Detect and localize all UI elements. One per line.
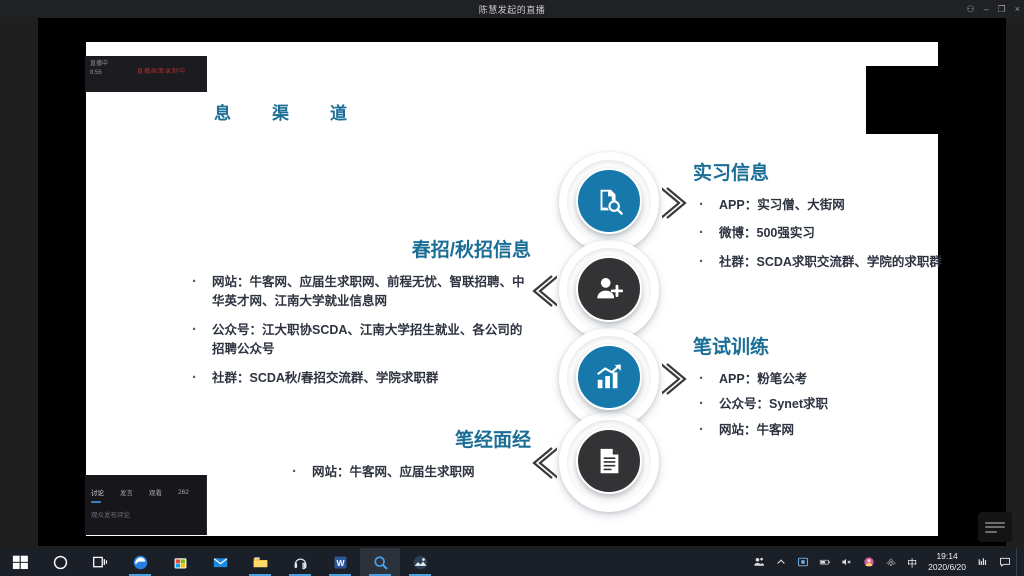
chain-node-1 [559, 152, 659, 252]
start-button[interactable] [0, 548, 40, 576]
restore-icon[interactable]: ❐ [998, 5, 1006, 14]
meeting-app-button[interactable] [280, 548, 320, 576]
section-heading: 春招/秋招信息 [186, 235, 531, 262]
action-center-icon[interactable] [994, 548, 1016, 576]
list-item: 公众号：江大职协SCDA、江南大学招生就业、各公司的招聘公众号 [186, 321, 531, 360]
onedrive-icon[interactable] [792, 548, 814, 576]
more-options-icon[interactable] [978, 512, 1012, 542]
network-icon[interactable] [880, 548, 902, 576]
equalizer-icon[interactable] [972, 548, 994, 576]
tab-discussion[interactable]: 讨论 [91, 487, 104, 497]
edge-button[interactable] [120, 548, 160, 576]
document-icon [576, 428, 642, 494]
list-item: 社群：SCDA秋/春招交流群、学院求职群 [186, 369, 531, 388]
user-avatar-icon[interactable] [858, 548, 880, 576]
tab-speak[interactable]: 发言 [120, 487, 133, 497]
add-person-icon [576, 256, 642, 322]
search-app-button[interactable] [360, 548, 400, 576]
section-written-test: 笔试训练 APP：粉笔公考 公众号：Synet求职 网站：牛客网 [693, 332, 993, 446]
tab-underline [91, 501, 101, 503]
show-hidden-icons-button[interactable] [770, 548, 792, 576]
volume-muted-icon[interactable] [836, 548, 858, 576]
section-recruit: 春招/秋招信息 网站：牛客网、应届生求职网、前程无忧、智联招聘、中华英才网、江南… [186, 235, 531, 397]
chat-tabs[interactable]: 讨论 发言 观看 262 [85, 475, 206, 497]
list-item: APP：实习僧、大街网 [693, 196, 993, 215]
ime-language-icon[interactable]: 中 [902, 548, 922, 576]
file-explorer-button[interactable] [240, 548, 280, 576]
section-bullets: 网站：牛客网、应届生求职网 [226, 463, 531, 482]
viewers-label: 观看 [149, 487, 162, 497]
clock-date: 2020/6/20 [928, 562, 966, 573]
chain-node-2 [559, 240, 659, 340]
close-icon[interactable]: × [1015, 5, 1020, 14]
list-item: 网站：牛客网、应届生求职网 [286, 463, 531, 482]
document-search-icon [576, 168, 642, 234]
clock-time: 19:14 [936, 551, 957, 562]
battery-icon[interactable] [814, 548, 836, 576]
window-title: 陈慧发起的直播 [479, 3, 546, 16]
minimize-icon[interactable]: – [984, 5, 989, 14]
section-internship: 实习信息 APP：实习僧、大街网 微博：500强实习 社群：SCDA求职交流群、… [693, 158, 993, 281]
cortana-search-button[interactable] [40, 548, 80, 576]
chevron-right-icon [662, 362, 692, 396]
photo-app-button[interactable] [400, 548, 440, 576]
list-item: 网站：牛客网、应届生求职网、前程无忧、智联招聘、中华英才网、江南大学就业信息网 [186, 273, 531, 312]
chain-node-4 [559, 412, 659, 512]
bell-icon[interactable]: ⚇ [967, 5, 975, 14]
chat-input[interactable]: 观众发布评论 [91, 509, 130, 519]
recording-notice: 直播画面录制中 [137, 68, 186, 77]
livestream-viewport[interactable]: 息 渠 道 [38, 18, 1006, 546]
stream-chat-overlay[interactable]: 讨论 发言 观看 262 观众发布评论 [85, 475, 207, 535]
section-bullets: APP：实习僧、大街网 微博：500强实习 社群：SCDA求职交流群、学院的求职… [693, 196, 993, 272]
section-heading: 实习信息 [693, 158, 993, 185]
show-desktop-button[interactable] [1016, 548, 1022, 576]
svg-text:W: W [336, 558, 345, 568]
section-experience: 笔经面经 网站：牛客网、应届生求职网 [226, 425, 531, 491]
window-titlebar: 陈慧发起的直播 ⚇ – ❐ × [0, 0, 1024, 18]
mail-button[interactable] [200, 548, 240, 576]
icon-chain [541, 152, 676, 522]
system-tray: 中 19:14 2020/6/20 [748, 548, 1024, 576]
chevron-left-icon [527, 446, 557, 480]
chevron-right-icon [662, 186, 692, 220]
taskbar-clock[interactable]: 19:14 2020/6/20 [922, 548, 972, 576]
chevron-left-icon [527, 274, 557, 308]
section-heading: 笔经面经 [226, 425, 531, 452]
list-item: 微博：500强实习 [693, 224, 993, 243]
section-bullets: APP：粉笔公考 公众号：Synet求职 网站：牛客网 [693, 370, 993, 440]
list-item: 网站：牛客网 [693, 421, 993, 440]
list-item: 社群：SCDA求职交流群、学院的求职群 [693, 253, 993, 272]
windows-taskbar: W 中 [0, 548, 1024, 576]
section-heading: 笔试训练 [693, 332, 993, 359]
microsoft-store-button[interactable] [160, 548, 200, 576]
taskbar-items: W [0, 548, 440, 576]
viewers-count: 262 [178, 489, 189, 496]
people-icon[interactable] [748, 548, 770, 576]
window-controls: ⚇ – ❐ × [967, 0, 1020, 18]
list-item: 公众号：Synet求职 [693, 395, 993, 414]
stream-status-overlay: 直播中 8:56 直播画面录制中 [85, 56, 207, 92]
slide-black-patch [866, 66, 986, 134]
word-button[interactable]: W [320, 548, 360, 576]
task-view-button[interactable] [80, 548, 120, 576]
presentation-slide: 息 渠 道 [86, 42, 938, 536]
growth-chart-icon [576, 344, 642, 410]
slide-title: 息 渠 道 [214, 99, 359, 124]
list-item: APP：粉笔公考 [693, 370, 993, 389]
section-bullets: 网站：牛客网、应届生求职网、前程无忧、智联招聘、中华英才网、江南大学就业信息网 … [186, 273, 531, 388]
